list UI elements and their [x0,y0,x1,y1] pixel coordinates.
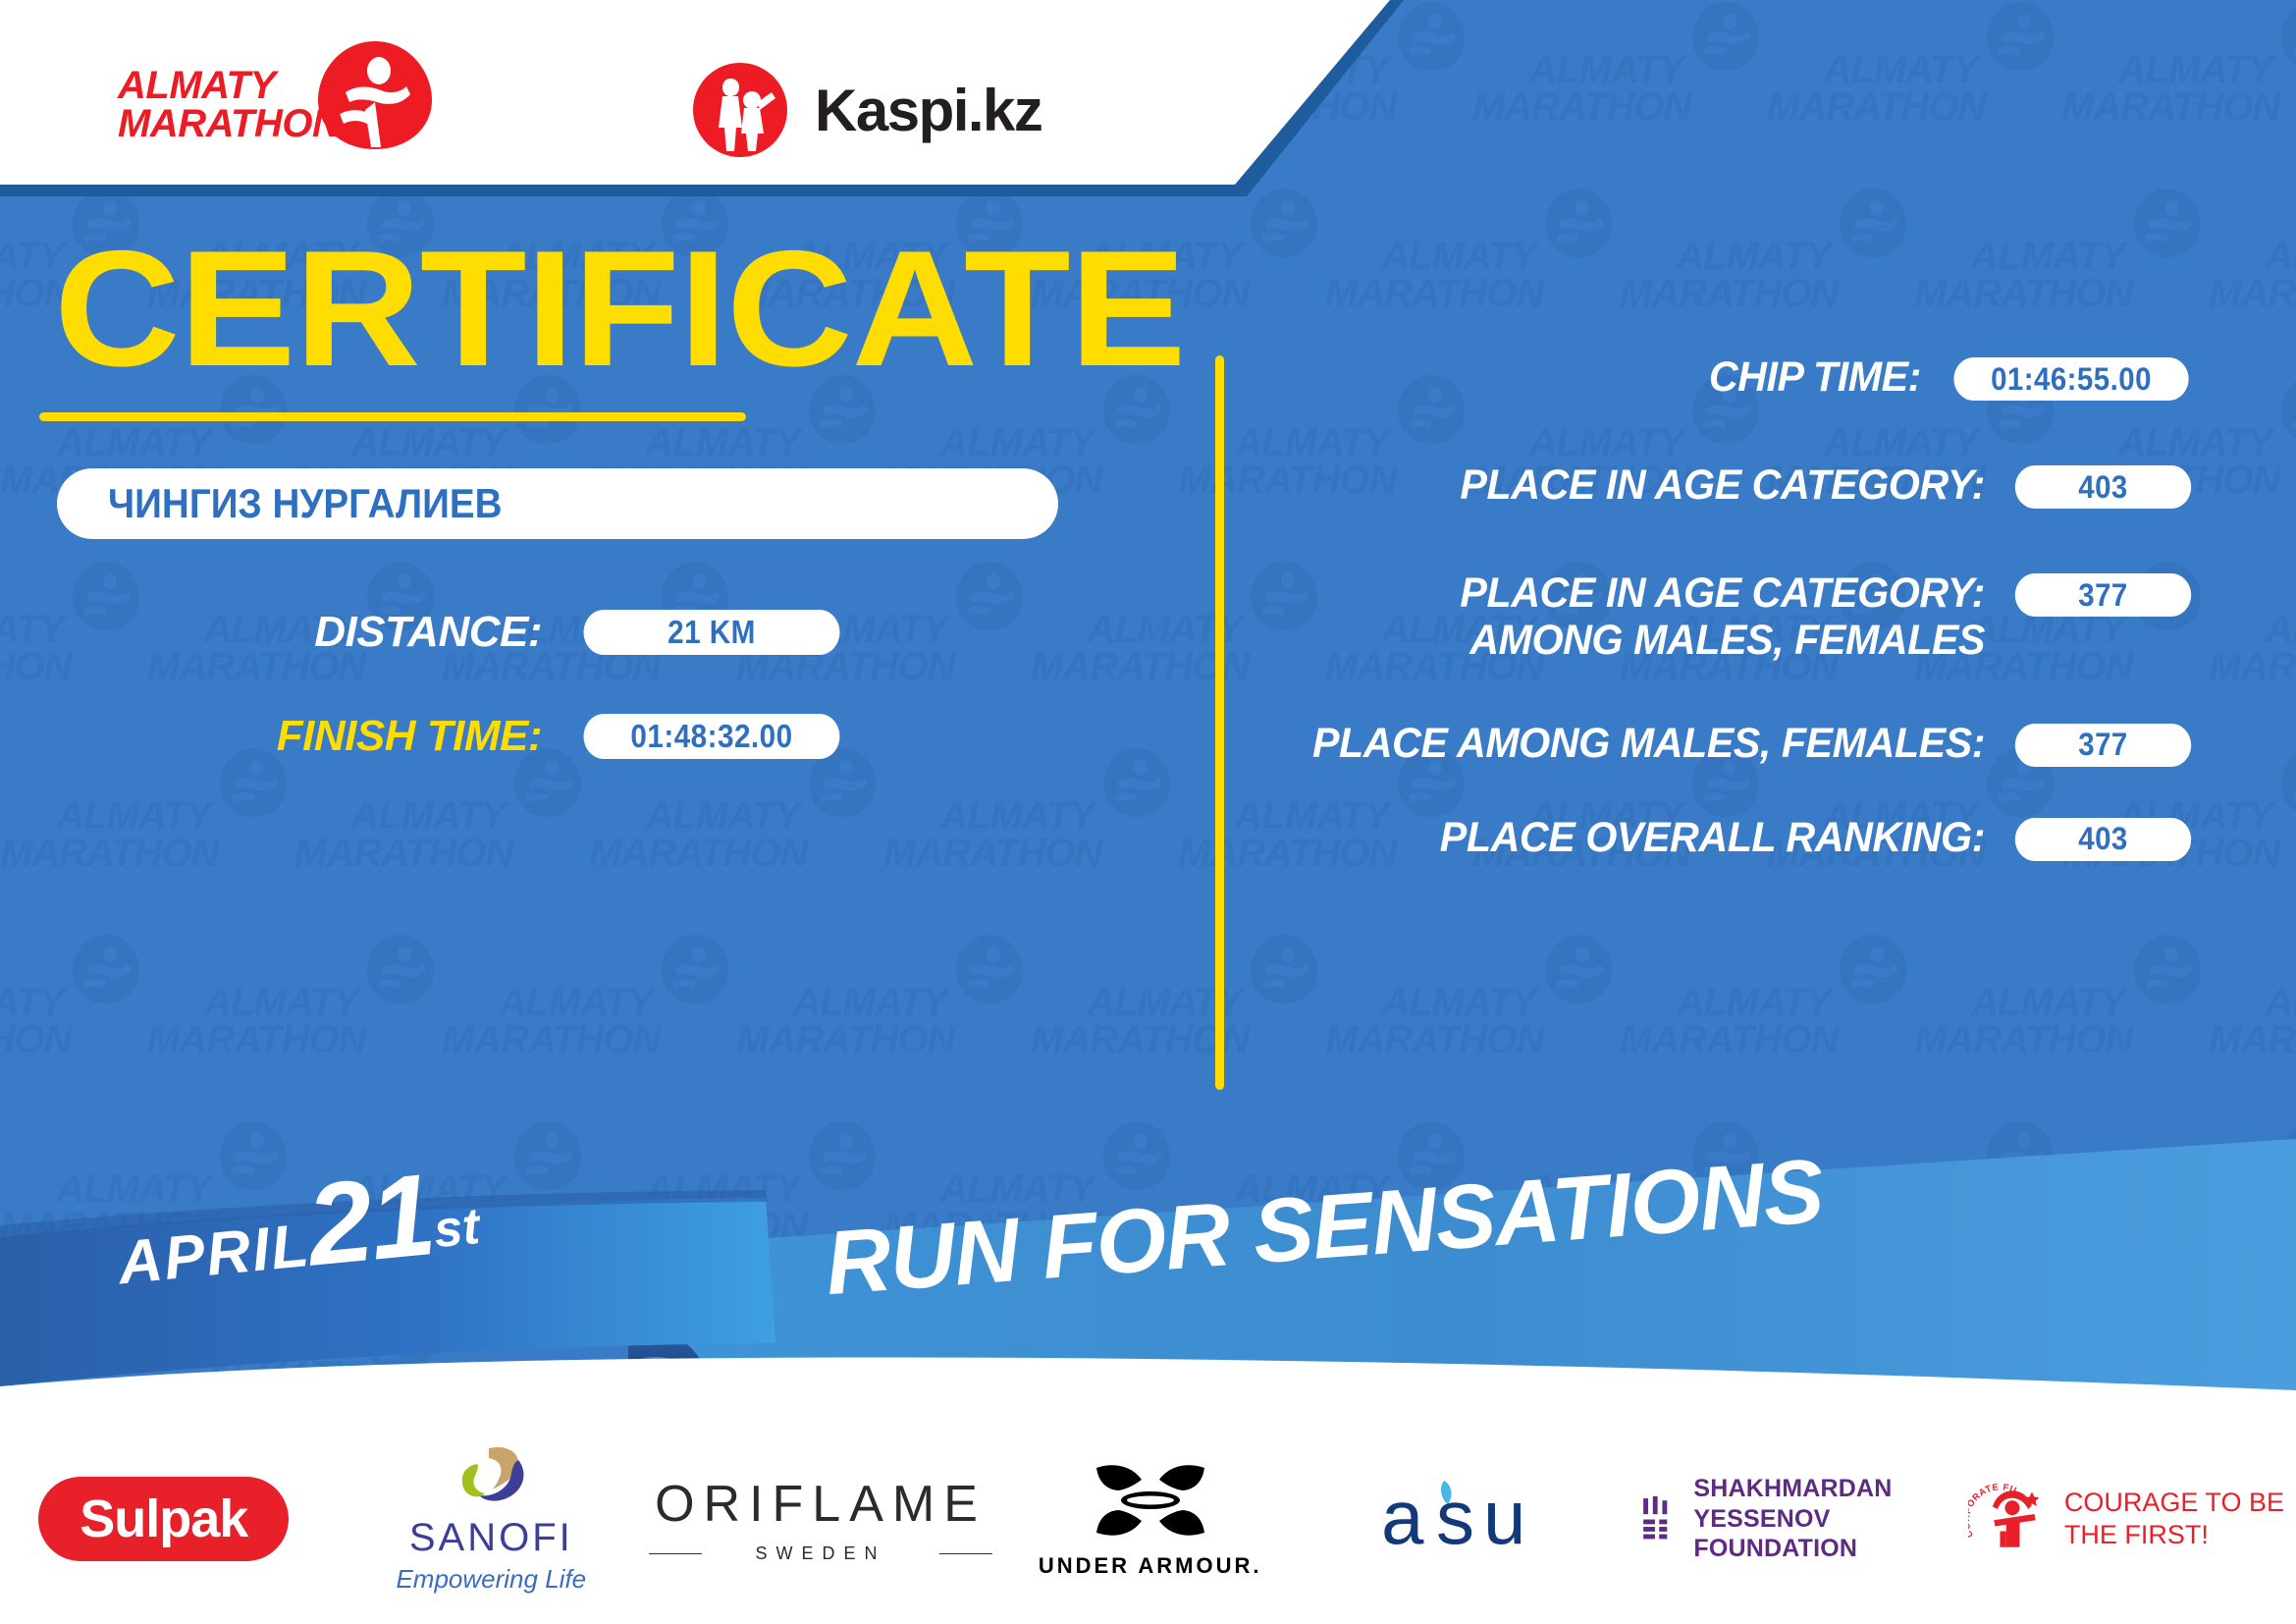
sanofi-mark-icon [442,1444,540,1507]
finish-time-row: FINISH TIME: 01:48:32.00 [0,712,1178,761]
oriflame-logo: ORIFLAME SWEDEN [655,1475,987,1564]
watermark-tile: ALMATYMARATHON [1914,187,2209,373]
watermark-text: ALMATYMARATHON [1031,984,1242,1058]
watermark-text: ALMATYMARATHON [0,797,211,872]
results-panel: CHIP TIME:01:46:55.00PLACE IN AGE CATEGO… [1276,353,2199,869]
event-month: APRIL [115,1212,313,1297]
almaty-marathon-wordmark: ALMATY MARATHON [118,67,383,143]
under-armour-mark-icon [1087,1460,1214,1543]
watermark-text: ALMATYMARATHON [0,984,64,1058]
kaspi-wordmark: Kaspi.kz [815,77,1041,144]
svg-text:a: a [1381,1474,1424,1560]
vertical-divider [1215,355,1224,1090]
participant-name-field: ЧИНГИЗ НУРГАЛИЕВ [57,468,1058,539]
oriflame-subtitle: SWEDEN [655,1543,987,1564]
sponsor-under-armour: UNDER ARMOUR. [987,1460,1314,1579]
watermark-runner-icon [954,933,1025,1009]
sponsor-sulpak: Sulpak [0,1477,328,1561]
watermark-tile: ALMATYMARATHON [1620,187,1914,373]
watermark-tile: ALMATYMARATHON [589,746,883,933]
watermark-text: ALMATYMARATHON [1620,238,1831,312]
watermark-runner-icon [71,933,141,1009]
watermark-tile: ALMATYMARATHON [1325,933,1620,1119]
under-armour-wordmark: UNDER ARMOUR. [1039,1553,1262,1579]
sponsor-bar: Sulpak SANOFI Empowering Life ORIFLAME S… [0,1414,2296,1624]
result-value: 377 [2015,724,2191,767]
watermark-tile: ALMATYMARATHON [2209,560,2296,746]
watermark-text: ALMATYMARATHON [2061,51,2272,126]
result-label: PLACE IN AGE CATEGORY: [1306,461,2007,509]
watermark-text: ALMATYMARATHON [1325,238,1536,312]
watermark-tile: ALMATYMARATHON [1620,933,1914,1119]
watermark-tile: ALMATYMARATHON [2209,933,2296,1119]
watermark-runner-icon [1838,933,1908,1009]
courage-tagline: COURAGE TO BE THE FIRST! [2064,1487,2296,1551]
watermark-text: ALMATYMARATHON [2209,984,2296,1058]
asu-wordmark-icon: a s u [1379,1473,1575,1561]
watermark-runner-icon [1985,0,2056,77]
watermark-text: ALMATYMARATHON [589,797,800,872]
watermark-tile: ALMATYMARATHON [1031,933,1325,1119]
result-value: 377 [2015,573,2191,617]
watermark-runner-icon [2132,187,2203,263]
result-label: PLACE IN AGE CATEGORY: AMONG MALES, FEMA… [1306,569,2007,664]
watermark-text: ALMATYMARATHON [1914,238,2125,312]
sponsor-courage-fund: CORPORATE FUND COURAGE TO BE THE FIRST! [1968,1464,2296,1574]
watermark-runner-icon [1543,933,1614,1009]
watermark-tile: ALMATYMARATHON [1325,187,1620,373]
finish-time-value: 01:48:32.00 [584,714,840,759]
certificate-left-panel: CERTIFICATE ЧИНГИЗ НУРГАЛИЕВ DISTANCE: 2… [0,226,1178,761]
watermark-runner-icon [1249,933,1319,1009]
marathon-logo-line1: ALMATY [118,67,383,105]
kaspi-logo: Kaspi.kz [687,57,1041,163]
sanofi-wordmark: SANOFI [396,1516,586,1560]
watermark-runner-icon [2279,746,2296,823]
result-value: 403 [2015,818,2191,861]
watermark-runner-icon [1838,187,1908,263]
participant-name: ЧИНГИЗ НУРГАЛИЕВ [108,480,503,527]
result-value: 403 [2015,465,2191,509]
result-row: PLACE IN AGE CATEGORY: AMONG MALES, FEMA… [1276,569,2199,664]
sanofi-tagline: Empowering Life [396,1564,586,1595]
corporate-fund-runner-icon: CORPORATE FUND [1968,1464,2054,1574]
watermark-text: ALMATYMARATHON [1325,984,1536,1058]
under-armour-logo: UNDER ARMOUR. [1039,1460,1262,1579]
watermark-text: ALMATYMARATHON [442,984,653,1058]
result-label: PLACE OVERALL RANKING: [1306,814,2007,861]
watermark-text: ALMATYMARATHON [883,797,1095,872]
watermark-runner-icon [2279,373,2296,450]
sponsor-oriflame: ORIFLAME SWEDEN [655,1475,987,1564]
sanofi-logo: SANOFI Empowering Life [396,1444,586,1595]
watermark-tile: ALMATYMARATHON [883,746,1178,933]
result-row: PLACE OVERALL RANKING:403 [1276,814,2199,861]
yessenov-foundation-logo: SHAKHMARDAN YESSENOV FOUNDATION [1641,1474,1969,1564]
distance-value: 21 KM [584,610,840,655]
watermark-tile: ALMATYMARATHON [147,933,442,1119]
event-day-ordinal: st [431,1198,482,1259]
watermark-runner-icon [1690,0,1761,77]
watermark-tile: ALMATYMARATHON [736,933,1031,1119]
watermark-runner-icon [365,933,436,1009]
event-day: 21 [302,1150,439,1291]
sponsor-asu: a s u [1313,1473,1641,1566]
watermark-runner-icon [1543,187,1614,263]
svg-text:u: u [1483,1474,1525,1560]
watermark-runner-icon [1249,187,1319,263]
result-row: PLACE IN AGE CATEGORY:403 [1276,461,2199,509]
watermark-runner-icon [2279,0,2296,77]
watermark-text: ALMATYMARATHON [1914,984,2125,1058]
watermark-runner-icon [2132,933,2203,1009]
watermark-tile: ALMATYMARATHON [0,746,294,933]
asu-logo: a s u [1379,1473,1575,1566]
watermark-tile: ALMATYMARATHON [1767,0,2061,187]
result-label: PLACE AMONG MALES, FEMALES: [1306,720,2007,767]
finish-time-label: FINISH TIME: [0,712,569,761]
watermark-runner-icon [1396,0,1467,77]
watermark-tile: ALMATYMARATHON [294,746,589,933]
watermark-tile: ALMATYMARATHON [442,933,736,1119]
watermark-text: ALMATYMARATHON [1767,51,1978,126]
watermark-tile: ALMATYMARATHON [1914,933,2209,1119]
watermark-text: ALMATYMARATHON [147,984,358,1058]
yessenov-wordmark: SHAKHMARDAN YESSENOV FOUNDATION [1693,1474,1968,1564]
watermark-text: ALMATYMARATHON [1472,51,1683,126]
almaty-marathon-logo: ALMATY MARATHON [118,37,442,155]
marathon-logo-line2: MARATHON [118,105,383,143]
event-ribbon: APRIL21st RUN FOR SENSATIONS [0,1100,2296,1424]
sulpak-logo: Sulpak [38,1477,289,1561]
result-row: CHIP TIME:01:46:55.00 [1276,353,2199,401]
watermark-text: ALMATYMARATHON [294,797,506,872]
result-value: 01:46:55.00 [1953,357,2188,401]
watermark-tile: ALMATYMARATHON [1472,0,1767,187]
watermark-text: ALMATYMARATHON [736,984,947,1058]
watermark-runner-icon [660,933,730,1009]
certificate-title: CERTIFICATE [54,226,1246,391]
title-underline [39,412,746,421]
courage-to-be-the-first-logo: CORPORATE FUND COURAGE TO BE THE FIRST! [1968,1464,2296,1574]
watermark-tile: ALMATYMARATHON [0,933,147,1119]
watermark-tile: ALMATYMARATHON [2209,187,2296,373]
sponsor-yessenov-foundation: SHAKHMARDAN YESSENOV FOUNDATION [1641,1474,1969,1564]
result-row: PLACE AMONG MALES, FEMALES:377 [1276,720,2199,767]
certificate-canvas: ALMATYMARATHONALMATYMARATHONALMATYMARATH… [0,0,2296,1624]
watermark-text: ALMATYMARATHON [1620,984,1831,1058]
watermark-tile: ALMATYMARATHON [2061,0,2296,187]
watermark-text: ALMATYMARATHON [2209,611,2296,685]
oriflame-wordmark: ORIFLAME [655,1475,987,1534]
kaspi-people-icon [687,57,793,163]
watermark-text: ALMATYMARATHON [2209,238,2296,312]
yessenov-mark-icon [1641,1477,1676,1561]
sponsor-sanofi: SANOFI Empowering Life [328,1444,656,1595]
result-label: CHIP TIME: [1303,353,1944,401]
distance-label: DISTANCE: [0,608,569,657]
distance-row: DISTANCE: 21 KM [0,608,1178,657]
